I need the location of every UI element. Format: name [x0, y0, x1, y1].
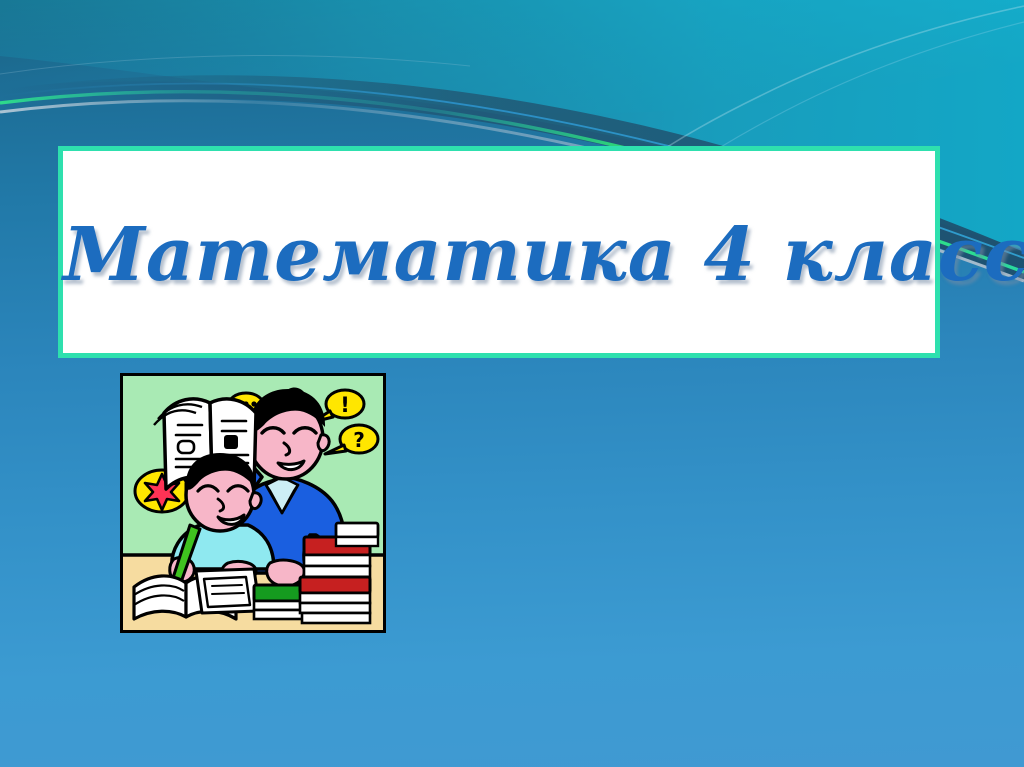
wave-left-arc — [0, 56, 470, 74]
clipart-teacher-and-student: ! ? — [120, 373, 386, 633]
page-title: Математика 4 класс — [63, 206, 935, 298]
book-stack — [300, 523, 378, 623]
teacher-ear — [318, 435, 329, 451]
presentation-slide: Математика 4 класс ! — [0, 0, 1024, 767]
svg-text:!: ! — [340, 393, 350, 417]
loose-papers — [196, 569, 260, 613]
title-box: Математика 4 класс — [58, 146, 940, 358]
clipart-svg: ! ? — [120, 373, 386, 633]
wave-teal-secondary — [0, 0, 1024, 114]
svg-text:?: ? — [353, 428, 365, 452]
student-ear — [250, 493, 261, 509]
